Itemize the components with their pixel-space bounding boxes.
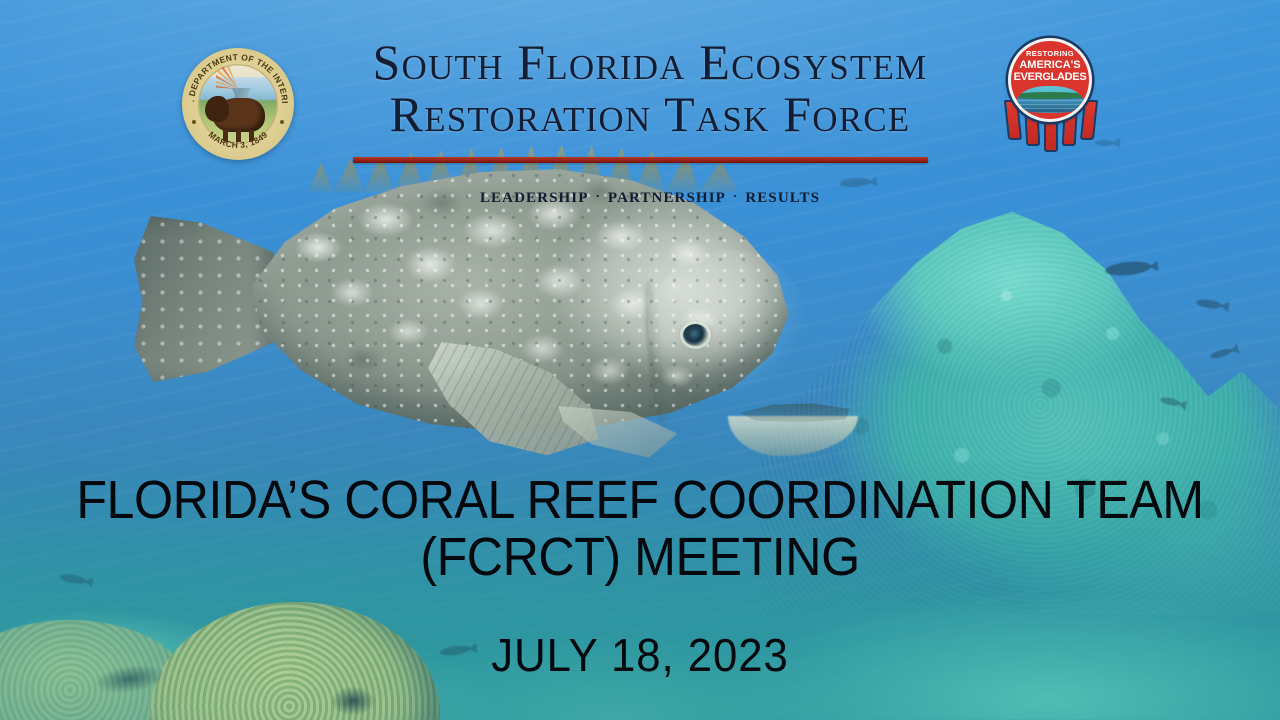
slide-header: U.S. DEPARTMENT OF THE INTERIOR MARCH 3,…	[0, 0, 1280, 220]
doi-seal-bottom-label: MARCH 3, 1849	[207, 129, 270, 150]
doi-seal-star-icon	[192, 120, 196, 124]
title-slide: U.S. DEPARTMENT OF THE INTERIOR MARCH 3,…	[0, 0, 1280, 720]
tagline-separator: ·	[595, 188, 600, 203]
everglades-logo-icon: RESTORING AMERICA'S EVERGLADES	[996, 38, 1104, 156]
doi-seal-ring-text-bottom: MARCH 3, 1849	[182, 48, 294, 160]
meeting-title: FLORIDA’S CORAL REEF COORDINATION TEAM (…	[45, 472, 1235, 586]
org-title-line-1: South Florida Ecosystem	[373, 34, 928, 90]
fish-eye-pupil	[689, 329, 702, 341]
fish-tail-spots	[134, 216, 274, 382]
tagline-item-partnership: PARTNERSHIP	[608, 190, 726, 206]
svg-text:MARCH 3, 1849: MARCH 3, 1849	[207, 129, 270, 150]
fish-head-highlight	[648, 250, 808, 400]
everglades-line1: RESTORING	[1011, 50, 1089, 58]
everglades-line2: AMERICA'S	[1011, 60, 1089, 71]
everglades-logo-text: RESTORING AMERICA'S EVERGLADES	[1011, 50, 1089, 83]
doi-seal-icon: U.S. DEPARTMENT OF THE INTERIOR MARCH 3,…	[182, 48, 294, 160]
fish-jaw	[728, 416, 858, 456]
meeting-date: JULY 18, 2023	[32, 628, 1248, 682]
tagline-separator: ·	[733, 188, 738, 203]
doi-seal-star-icon	[280, 120, 284, 124]
meeting-title-line-2: (FCRCT) MEETING	[45, 529, 1235, 586]
everglades-badge: RESTORING AMERICA'S EVERGLADES	[1008, 38, 1092, 122]
everglades-landscape-icon	[1016, 86, 1084, 113]
tagline-item-results: RESULTS	[745, 190, 820, 206]
organization-tagline: LEADERSHIP·PARTNERSHIP·RESULTS	[300, 188, 1000, 207]
tagline-item-leadership: LEADERSHIP	[480, 190, 589, 206]
organization-title: South Florida Ecosystem Restoration Task…	[300, 36, 1000, 140]
header-divider-rule	[353, 157, 928, 163]
meeting-title-line-1: FLORIDA’S CORAL REEF COORDINATION TEAM	[45, 472, 1235, 529]
everglades-line3: EVERGLADES	[1011, 72, 1089, 83]
reef-crevice-shadow	[330, 686, 376, 716]
org-title-line-2: Restoration Task Force	[300, 88, 1000, 140]
